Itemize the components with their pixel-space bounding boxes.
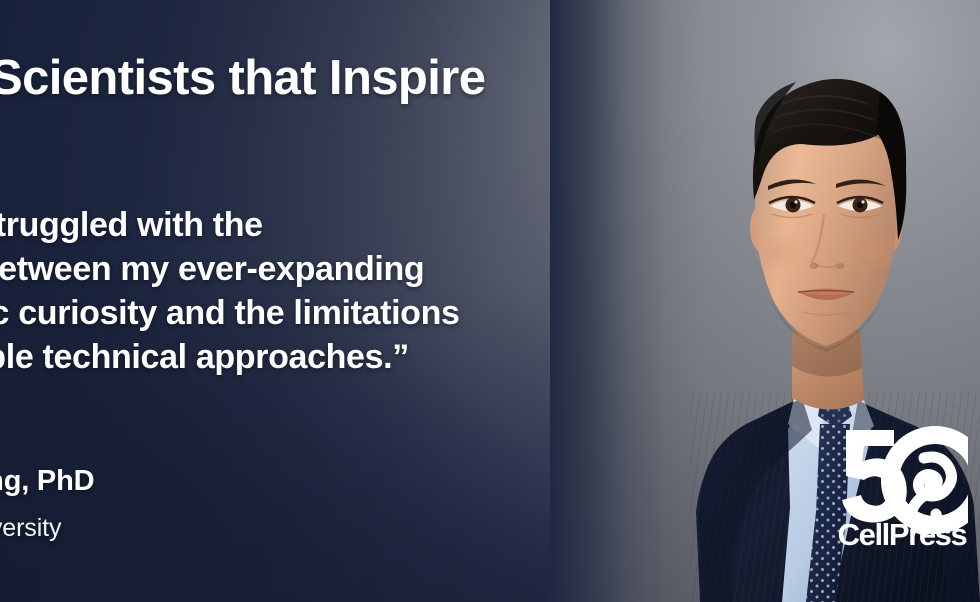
scientists-that-inspire-banner: Scientists that Inspire ve struggled wit… — [0, 0, 980, 602]
cell-press-50-logo: CellPress — [836, 424, 968, 552]
text-content-column: Scientists that Inspire ve struggled wit… — [0, 0, 600, 602]
page-title: Scientists that Inspire — [0, 53, 630, 104]
attribution-name: Cheng, PhD — [0, 462, 572, 500]
quote-attribution: Cheng, PhD a University — [0, 462, 572, 546]
logo-wordmark: CellPress — [838, 517, 967, 552]
attribution-affiliation: a University — [0, 510, 572, 546]
quote-line: ntific curiosity and the limitations — [0, 291, 650, 335]
pull-quote: ve struggled with the ict between my eve… — [0, 203, 650, 379]
quote-line: ailable technical approaches.” — [0, 335, 650, 379]
quote-line: ict between my ever-expanding — [0, 247, 650, 291]
quote-line: ve struggled with the — [0, 203, 650, 247]
